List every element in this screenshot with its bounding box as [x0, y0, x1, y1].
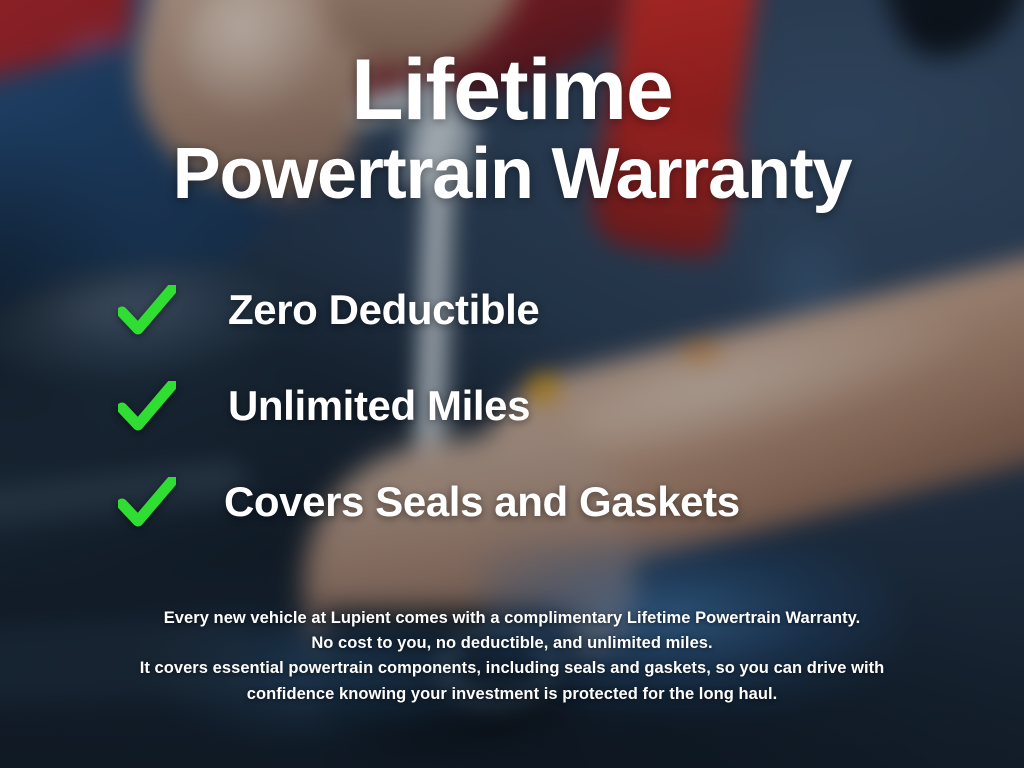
check-icon — [118, 285, 180, 335]
body-line-4: confidence knowing your investment is pr… — [70, 682, 954, 707]
body-line-2: No cost to you, no deductible, and unlim… — [70, 631, 954, 656]
body-line-3: It covers essential powertrain component… — [70, 656, 954, 681]
feature-item-covers-seals-and-gaskets: Covers Seals and Gaskets — [118, 454, 1024, 550]
feature-label: Unlimited Miles — [228, 382, 530, 430]
feature-list: Zero Deductible Unlimited Miles Covers S… — [0, 262, 1024, 550]
body-line-1: Every new vehicle at Lupient comes with … — [70, 606, 954, 631]
feature-item-zero-deductible: Zero Deductible — [118, 262, 1024, 358]
feature-label: Covers Seals and Gaskets — [224, 478, 740, 526]
check-icon — [118, 477, 180, 527]
check-icon — [118, 381, 180, 431]
headline-line-1: Lifetime — [0, 48, 1024, 132]
promo-banner: Lifetime Powertrain Warranty Zero Deduct… — [0, 0, 1024, 768]
headline-line-2: Powertrain Warranty — [0, 138, 1024, 210]
feature-label: Zero Deductible — [228, 286, 539, 334]
body-copy: Every new vehicle at Lupient comes with … — [0, 606, 1024, 706]
feature-item-unlimited-miles: Unlimited Miles — [118, 358, 1024, 454]
headline: Lifetime Powertrain Warranty — [0, 48, 1024, 210]
